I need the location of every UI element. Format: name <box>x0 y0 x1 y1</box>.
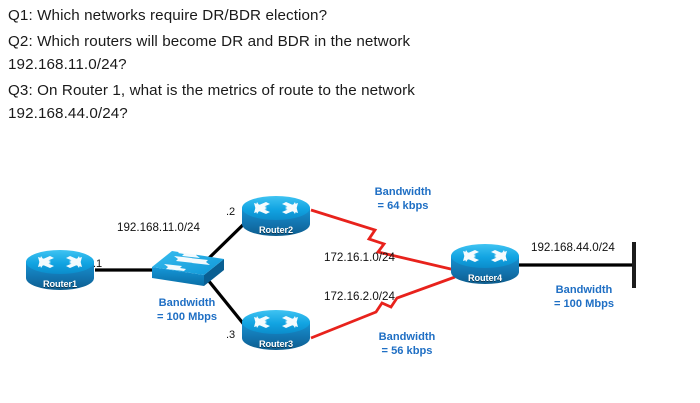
bandwidth-label-lan44: Bandwidth = 100 Mbps <box>541 283 627 311</box>
network-label-192-168-44: 192.168.44.0/24 <box>531 241 615 256</box>
router-icon <box>240 194 312 240</box>
router-icon <box>24 248 96 294</box>
bandwidth-label-serial2: Bandwidth = 56 kbps <box>364 330 450 358</box>
interface-label-router2: .2 <box>226 205 235 219</box>
router-icon <box>449 242 521 288</box>
bandwidth-title: Bandwidth <box>541 283 627 297</box>
bandwidth-title: Bandwidth <box>144 296 230 310</box>
bandwidth-value: = 100 Mbps <box>541 297 627 311</box>
interface-label-router1: .1 <box>93 257 102 271</box>
link-router3-router4 <box>311 277 455 338</box>
bandwidth-title: Bandwidth <box>364 330 450 344</box>
device-switch1[interactable] <box>148 245 226 285</box>
device-router1[interactable]: Router1 <box>24 248 96 294</box>
switch-icon <box>148 245 228 291</box>
bandwidth-value: = 56 kbps <box>364 344 450 358</box>
network-label-172-16-2: 172.16.2.0/24 <box>324 290 395 305</box>
bandwidth-title: Bandwidth <box>360 185 446 199</box>
bandwidth-value: = 100 Mbps <box>144 310 230 324</box>
device-router3[interactable]: Router3 <box>240 308 312 354</box>
bandwidth-label-lan11: Bandwidth = 100 Mbps <box>144 296 230 324</box>
topology-links <box>0 160 700 403</box>
router-icon <box>240 308 312 354</box>
interface-label-router3: .3 <box>226 328 235 342</box>
network-topology-diagram: Router1 <box>0 160 700 403</box>
question-q3: Q3: On Router 1, what is the metrics of … <box>8 79 668 125</box>
device-router2[interactable]: Router2 <box>240 194 312 240</box>
network-label-192-168-11: 192.168.11.0/24 <box>117 221 200 236</box>
bandwidth-value: = 64 kbps <box>360 199 446 213</box>
device-router4[interactable]: Router4 <box>449 242 521 288</box>
question-q2: Q2: Which routers will become DR and BDR… <box>8 30 668 76</box>
questions-block: Q1: Which networks require DR/BDR electi… <box>8 4 668 128</box>
bandwidth-label-serial1: Bandwidth = 64 kbps <box>360 185 446 213</box>
question-q1: Q1: Which networks require DR/BDR electi… <box>8 4 668 27</box>
network-label-172-16-1: 172.16.1.0/24 <box>324 251 395 266</box>
